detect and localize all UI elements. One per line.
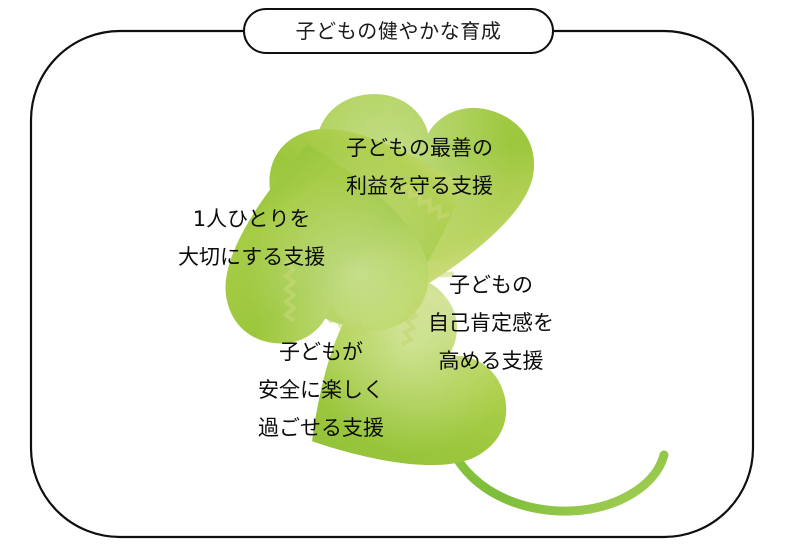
petal-label-right-line-3: 高める支援	[428, 342, 554, 380]
petal-label-top-line-1: 子どもの最善の	[346, 129, 493, 167]
petal-label-left-line-2: 大切にする支援	[178, 238, 325, 276]
petal-label-right-line-2: 自己肯定感を	[428, 304, 554, 342]
petal-label-bottom-line-3: 過ごせる支援	[258, 409, 384, 447]
diagram-canvas: 子どもの健やかな育成 子どもの最善の 利益を守る支援 1人ひとりを 大切にする支…	[0, 0, 795, 554]
diagram-title-box: 子どもの健やかな育成	[243, 8, 554, 54]
page-title: 子どもの健やかな育成	[296, 21, 502, 41]
petal-label-right-line-1: 子どもの	[428, 266, 554, 304]
petal-label-top-line-2: 利益を守る支援	[346, 167, 493, 205]
petal-label-left-line-1: 1人ひとりを	[178, 200, 325, 238]
petal-label-right: 子どもの 自己肯定感を 高める支援	[428, 266, 554, 380]
clover-illustration	[0, 0, 795, 554]
petal-label-bottom: 子どもが 安全に楽しく 過ごせる支援	[258, 333, 384, 447]
petal-label-left: 1人ひとりを 大切にする支援	[178, 200, 325, 276]
petal-label-bottom-line-2: 安全に楽しく	[258, 371, 384, 409]
petal-label-top: 子どもの最善の 利益を守る支援	[346, 129, 493, 205]
petal-label-bottom-line-1: 子どもが	[258, 333, 384, 371]
